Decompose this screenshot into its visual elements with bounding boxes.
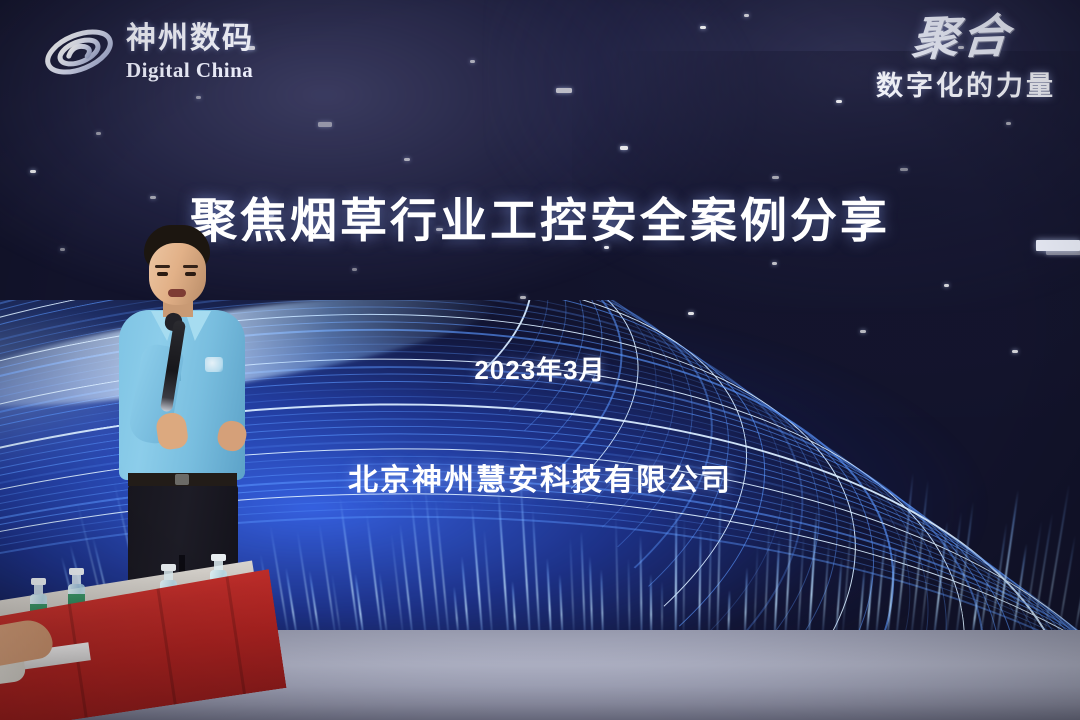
particle-dot (772, 176, 779, 179)
cloth-fold (156, 586, 177, 705)
speaker-shirt-logo (205, 357, 223, 372)
slogan-main: 聚合 (804, 14, 1014, 65)
brand-name-cn: 神州数码 (126, 24, 254, 54)
bottle-neck (34, 585, 43, 594)
stream-fiber (682, 517, 685, 632)
particle-dot (318, 122, 332, 127)
bottle-neck (72, 575, 81, 584)
cloth-fold (225, 575, 246, 694)
particle-dot (556, 88, 572, 93)
bottle-neck (164, 571, 173, 580)
speaker-eye-left (157, 272, 168, 276)
attendee-arm (0, 617, 55, 668)
slogan-sub: 数字化的力量 (806, 64, 1056, 103)
brand-text-left: 神州数码 Digital China (126, 24, 254, 81)
digital-china-swirl-logo-icon (42, 22, 116, 82)
particle-dot (620, 146, 628, 150)
stream-fiber (661, 581, 663, 632)
speaker-brow-right (183, 265, 198, 268)
particle-dot (96, 132, 101, 135)
particle-dot (470, 60, 475, 63)
bottle-cap (69, 568, 84, 575)
speaker-mouth (168, 289, 186, 297)
particle-dot (744, 14, 749, 17)
bottle-cap (161, 564, 176, 571)
brand-lockup-right: 聚合 数字化的力量 (806, 18, 1056, 103)
speaker-brow-left (155, 265, 170, 268)
speaker-eye-right (185, 272, 196, 276)
particle-dot (404, 158, 410, 161)
particle-dot (700, 26, 706, 29)
stream-fiber (650, 574, 652, 632)
particle-dot (196, 96, 201, 99)
brand-name-en: Digital China (126, 60, 254, 81)
bottle-cap (211, 554, 226, 561)
particle-dot (900, 168, 908, 171)
conference-photo: 神州数码 Digital China 聚合 数字化的力量 聚焦烟草行业工控安全案… (0, 0, 1080, 720)
particle-dot (1006, 122, 1011, 125)
seated-attendee (0, 612, 60, 684)
particle-dot (30, 170, 36, 173)
bottle-cap (31, 578, 46, 585)
bottle-neck (214, 561, 223, 570)
speaker-belt-buckle (175, 474, 189, 485)
particle-dot (520, 296, 526, 299)
particle-dot (944, 284, 949, 287)
brand-lockup-left: 神州数码 Digital China (42, 22, 254, 82)
particle-dot (772, 262, 777, 265)
particle-dot (352, 268, 357, 271)
